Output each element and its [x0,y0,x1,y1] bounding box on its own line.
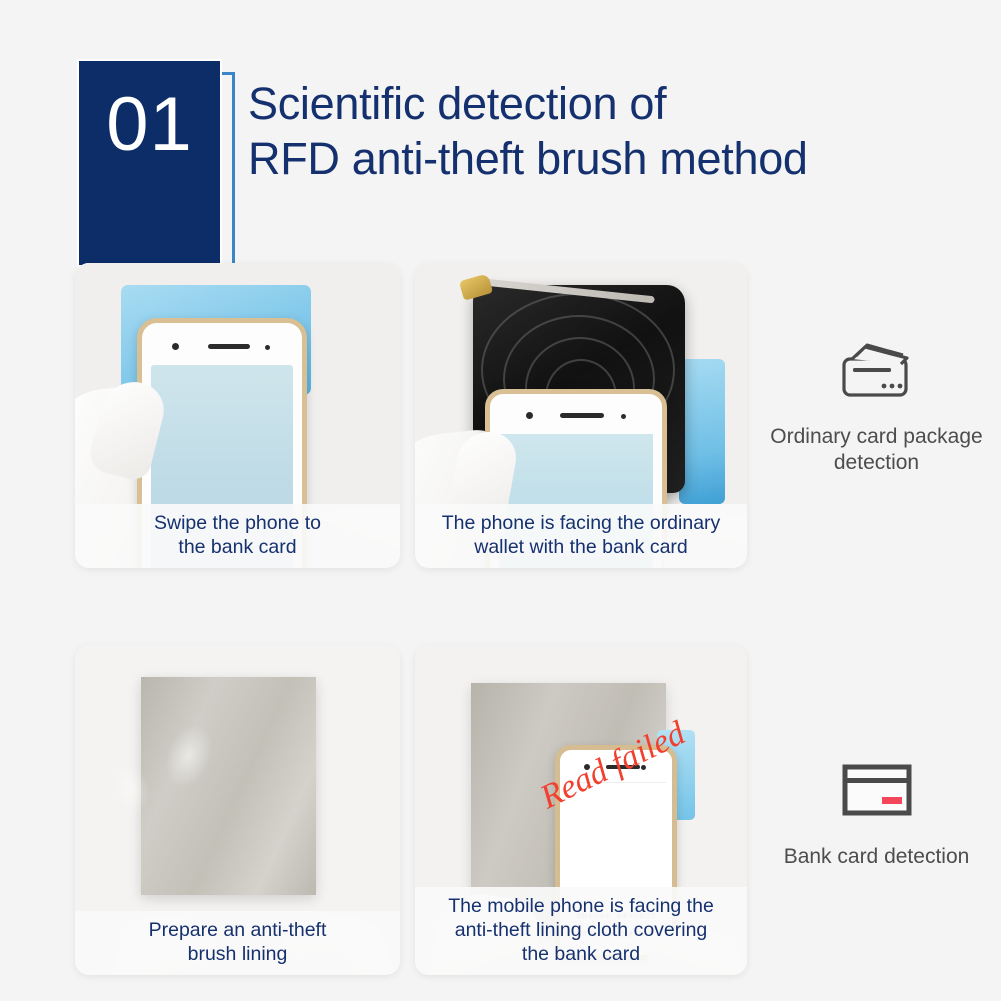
side-label: Ordinary card package detection [752,424,1001,476]
earpiece-speaker [208,344,250,349]
caption-line-2: wallet with the bank card [419,535,743,559]
anti-theft-lining-sheet [141,677,316,895]
page-title-line-2: RFD anti-theft brush method [248,131,948,186]
caption-line-1: The mobile phone is facing the [419,894,743,918]
side-label-line-1: Ordinary card package [758,424,995,450]
panel-caption: Prepare an anti-theft brush lining [75,911,400,975]
step-number: 01 [106,87,193,163]
page-title: Scientific detection of RFD anti-theft b… [248,76,948,186]
row-bank-card-detection: Prepare an anti-theft brush lining 读取卡片信… [75,645,747,975]
caption-line-1: The phone is facing the ordinary [419,511,743,535]
earpiece-speaker [560,413,604,418]
panel-caption: The mobile phone is facing the anti-thef… [415,887,747,975]
proximity-sensor-icon [265,345,270,350]
photo-panel-prepare-lining: Prepare an anti-theft brush lining [75,645,400,975]
photo-panel-ordinary-wallet: The phone is facing the ordinary wallet … [415,263,747,568]
photo-panel-lining-covering-card: 读取卡片信息，请将卡片靠近手机 背面上的NFC区域进行读卡 Read faile… [415,645,747,975]
caption-line-2: brush lining [79,942,396,966]
bank-card-icon [752,750,1001,830]
panel-caption: The phone is facing the ordinary wallet … [415,504,747,568]
caption-line-3: the bank card [419,942,743,966]
card-holder-icon [752,330,1001,410]
page-title-line-1: Scientific detection of [248,76,948,131]
infographic-page: 01 Scientific detection of RFD anti-thef… [0,0,1001,1001]
side-bank-card-detection: Bank card detection [752,750,1001,870]
caption-line-2: anti-theft lining cloth covering [419,918,743,942]
caption-line-1: Swipe the phone to [79,511,396,535]
caption-line-1: Prepare an anti-theft [79,918,396,942]
side-label-line-2: detection [758,450,995,476]
row-ordinary-card-package: Swipe the phone to the bank card [75,263,747,568]
caption-line-2: the bank card [79,535,396,559]
step-number-badge: 01 [77,59,222,267]
bank-card-blue [679,359,725,504]
front-camera-icon [172,343,179,350]
panel-caption: Swipe the phone to the bank card [75,504,400,568]
side-label-line-1: Bank card detection [758,844,995,870]
front-camera-icon [526,412,533,419]
side-label: Bank card detection [752,844,1001,870]
header: 01 Scientific detection of RFD anti-thef… [0,0,1001,285]
side-ordinary-card-package: Ordinary card package detection [752,330,1001,476]
photo-panel-swipe-phone: Swipe the phone to the bank card [75,263,400,568]
proximity-sensor-icon [621,414,626,419]
